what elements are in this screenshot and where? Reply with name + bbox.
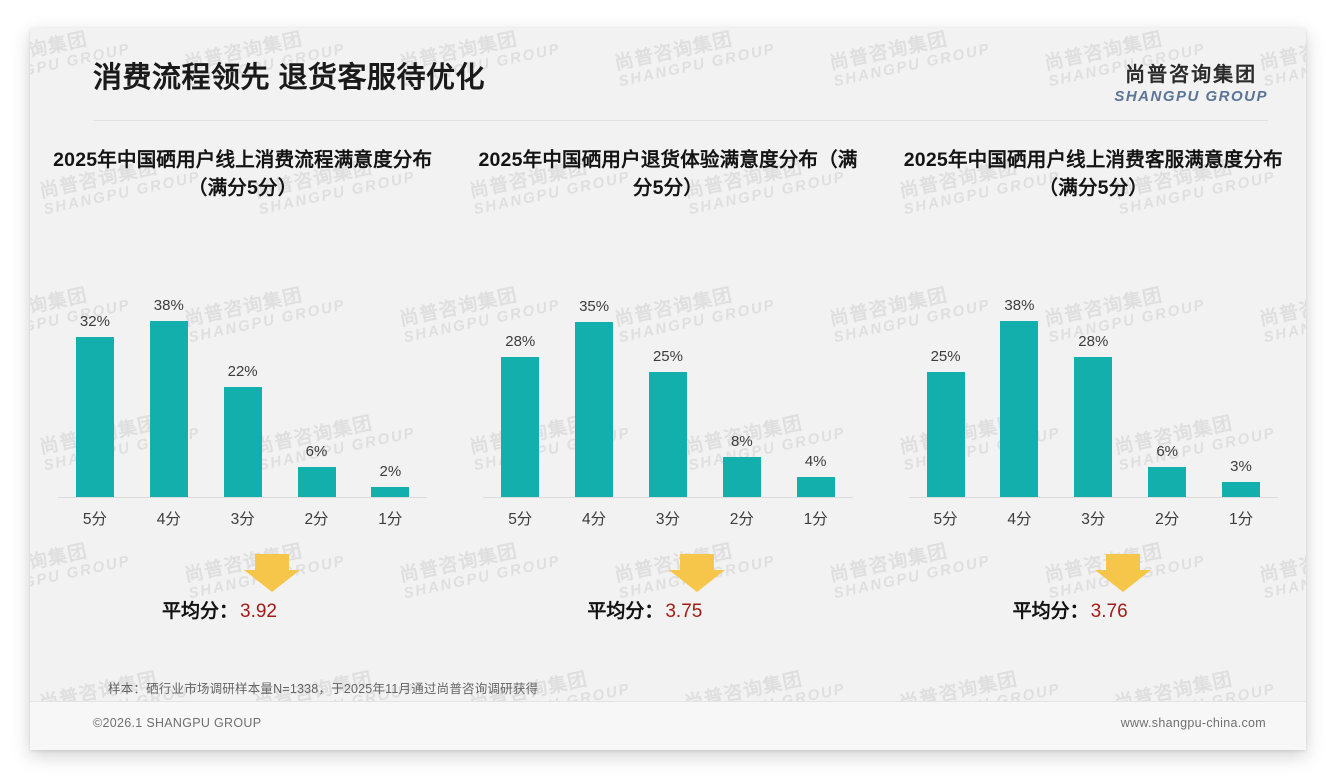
bar-value-label: 2% [380, 463, 402, 480]
average-score-value: 3.92 [240, 601, 277, 622]
slide-footer: ©2026.1 SHANGPU GROUP www.shangpu-china.… [30, 701, 1306, 750]
bar-chart: 28%35%25%8%4%5分4分3分2分1分 [467, 266, 868, 546]
bar-slot: 38% [133, 297, 205, 497]
bar-value-label: 6% [306, 443, 328, 460]
average-score-text: 平均分：3.75 [587, 596, 702, 623]
x-axis-labels: 5分4分3分2分1分 [58, 502, 427, 534]
x-axis-tick-label: 2分 [1131, 507, 1203, 529]
x-axis-tick-label: 5分 [484, 507, 556, 529]
charts-row: 2025年中国硒用户线上消费流程满意度分布（满分5分）32%38%22%6%2%… [30, 146, 1306, 630]
x-axis-tick-label: 4分 [558, 507, 630, 529]
bar-value-label: 32% [80, 313, 110, 330]
x-axis-line [483, 497, 852, 498]
footer-copyright: ©2026.1 SHANGPU GROUP [93, 716, 261, 730]
bar[interactable] [1074, 357, 1112, 497]
bar-value-label: 8% [731, 433, 753, 450]
x-axis-tick-label: 5分 [910, 507, 982, 529]
company-logo: 尚普咨询集团 SHANGPU GROUP [1114, 58, 1268, 105]
average-score-value: 3.75 [665, 601, 702, 622]
header-divider [93, 120, 1268, 121]
bar-slot: 6% [281, 297, 353, 497]
bar[interactable] [1000, 321, 1038, 497]
bar-value-label: 28% [505, 333, 535, 350]
x-axis-tick-label: 3分 [632, 507, 704, 529]
footnote: 样本：硒行业市场调研样本量N=1338，于2025年11月通过尚普咨询调研获得 [108, 678, 538, 697]
bar[interactable] [298, 467, 336, 497]
average-score-row: 平均分：3.92 [42, 552, 443, 630]
average-score-row: 平均分：3.76 [893, 552, 1294, 630]
chart-panel-1: 2025年中国硒用户线上消费流程满意度分布（满分5分）32%38%22%6%2%… [30, 146, 455, 630]
bar[interactable] [224, 387, 262, 497]
bar-slot: 28% [1057, 297, 1129, 497]
bar-chart: 32%38%22%6%2%5分4分3分2分1分 [42, 266, 443, 546]
bar-value-label: 25% [653, 348, 683, 365]
chart-panel-3: 2025年中国硒用户线上消费客服满意度分布（满分5分）25%38%28%6%3%… [881, 146, 1306, 630]
x-axis-labels: 5分4分3分2分1分 [483, 502, 852, 534]
average-score-label: 平均分： [587, 601, 663, 622]
slide-canvas: 尚普咨询集团SHANGPU GROUP尚普咨询集团SHANGPU GROUP尚普… [30, 28, 1306, 750]
average-score-value: 3.76 [1091, 601, 1128, 622]
average-score-text: 平均分：3.92 [162, 596, 277, 623]
x-axis-tick-label: 4分 [983, 507, 1055, 529]
bar[interactable] [927, 372, 965, 497]
bar-slot: 2% [354, 297, 426, 497]
bar-value-label: 38% [1004, 297, 1034, 314]
bar-group: 32%38%22%6%2% [58, 297, 427, 497]
x-axis-labels: 5分4分3分2分1分 [909, 502, 1278, 534]
bar-slot: 4% [780, 297, 852, 497]
x-axis-tick-label: 2分 [281, 507, 353, 529]
x-axis-line [58, 497, 427, 498]
arrow-shaft [1106, 554, 1140, 570]
bar[interactable] [649, 372, 687, 497]
bar-chart: 25%38%28%6%3%5分4分3分2分1分 [893, 266, 1294, 546]
bar-slot: 38% [983, 297, 1055, 497]
bar-slot: 3% [1205, 297, 1277, 497]
x-axis-tick-label: 1分 [354, 507, 426, 529]
bar-slot: 25% [632, 297, 704, 497]
chart-panel-2: 2025年中国硒用户退货体验满意度分布（满分5分）28%35%25%8%4%5分… [455, 146, 880, 630]
arrow-head [669, 570, 725, 592]
bar[interactable] [797, 477, 835, 497]
bar-group: 28%35%25%8%4% [483, 297, 852, 497]
x-axis-tick-label: 3分 [1057, 507, 1129, 529]
x-axis-tick-label: 5分 [59, 507, 131, 529]
bar-value-label: 28% [1078, 333, 1108, 350]
arrow-shaft [255, 554, 289, 570]
bar[interactable] [1222, 482, 1260, 497]
bar-value-label: 22% [228, 363, 258, 380]
arrow-head [244, 570, 300, 592]
x-axis-tick-label: 1分 [780, 507, 852, 529]
arrow-shaft [680, 554, 714, 570]
logo-chinese-text: 尚普咨询集团 [1114, 58, 1268, 87]
arrow-head [1095, 570, 1151, 592]
slide-header: 消费流程领先 退货客服待优化 尚普咨询集团 SHANGPU GROUP [30, 28, 1306, 120]
bar-value-label: 35% [579, 298, 609, 315]
page-title: 消费流程领先 退货客服待优化 [93, 54, 485, 96]
bar[interactable] [723, 457, 761, 497]
bar[interactable] [371, 487, 409, 497]
bar-slot: 32% [59, 297, 131, 497]
average-score-label: 平均分： [1013, 601, 1089, 622]
bar-slot: 35% [558, 297, 630, 497]
logo-english-text: SHANGPU GROUP [1114, 88, 1268, 105]
x-axis-tick-label: 2分 [706, 507, 778, 529]
bar[interactable] [150, 321, 188, 497]
chart-title: 2025年中国硒用户线上消费流程满意度分布（满分5分） [42, 146, 443, 204]
chart-title: 2025年中国硒用户线上消费客服满意度分布（满分5分） [893, 146, 1294, 204]
bar-slot: 28% [484, 297, 556, 497]
bar-value-label: 38% [154, 297, 184, 314]
bar-slot: 6% [1131, 297, 1203, 497]
bar[interactable] [575, 322, 613, 497]
bar-group: 25%38%28%6%3% [909, 297, 1278, 497]
bar[interactable] [1148, 467, 1186, 497]
x-axis-tick-label: 4分 [133, 507, 205, 529]
bar-slot: 25% [910, 297, 982, 497]
chart-title: 2025年中国硒用户退货体验满意度分布（满分5分） [467, 146, 868, 204]
bar[interactable] [76, 337, 114, 497]
x-axis-tick-label: 1分 [1205, 507, 1277, 529]
average-score-text: 平均分：3.76 [1013, 596, 1128, 623]
x-axis-tick-label: 3分 [207, 507, 279, 529]
average-score-row: 平均分：3.75 [467, 552, 868, 630]
footer-website[interactable]: www.shangpu-china.com [1121, 716, 1266, 730]
x-axis-line [909, 497, 1278, 498]
bar-value-label: 6% [1156, 443, 1178, 460]
bar-slot: 8% [706, 297, 778, 497]
bar[interactable] [501, 357, 539, 497]
bar-value-label: 25% [931, 348, 961, 365]
bar-value-label: 4% [805, 453, 827, 470]
average-score-label: 平均分： [162, 601, 238, 622]
bar-value-label: 3% [1230, 458, 1252, 475]
bar-slot: 22% [207, 297, 279, 497]
